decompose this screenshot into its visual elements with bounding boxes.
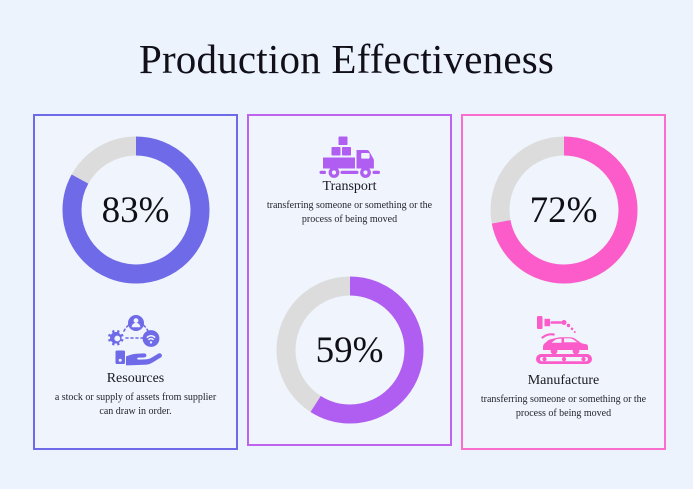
- body-resources: a stock or supply of assets from supplie…: [47, 391, 224, 420]
- donut-percent-label-transport: 59%: [270, 270, 430, 430]
- text-block-transport: Transport transferring someone or someth…: [249, 178, 450, 228]
- donut-chart-manufacture: 72%: [484, 130, 644, 290]
- page-title: Production Effectiveness: [0, 36, 693, 83]
- donut-percent-label-resources: 83%: [56, 130, 216, 290]
- panel-transport[interactable]: Transport transferring someone or someth…: [247, 114, 452, 446]
- body-transport: transferring someone or something or the…: [261, 199, 438, 228]
- panel-manufacture[interactable]: 72%: [461, 114, 666, 450]
- infographic-page: Production Effectiveness 83%: [0, 0, 693, 489]
- text-block-manufacture: Manufacture transferring someone or some…: [463, 372, 664, 422]
- donut-chart-transport: 59%: [270, 270, 430, 430]
- heading-manufacture: Manufacture: [475, 372, 652, 390]
- panel-resources[interactable]: 83%: [33, 114, 238, 450]
- donut-chart-resources: 83%: [56, 130, 216, 290]
- donut-percent-label-manufacture: 72%: [484, 130, 644, 290]
- heading-transport: Transport: [261, 178, 438, 196]
- heading-resources: Resources: [47, 370, 224, 388]
- body-manufacture: transferring someone or something or the…: [475, 393, 652, 422]
- text-block-resources: Resources a stock or supply of assets fr…: [35, 370, 236, 420]
- resources-hand-network-icon: [96, 312, 176, 368]
- robot-arm-car-assembly-icon: [524, 312, 604, 368]
